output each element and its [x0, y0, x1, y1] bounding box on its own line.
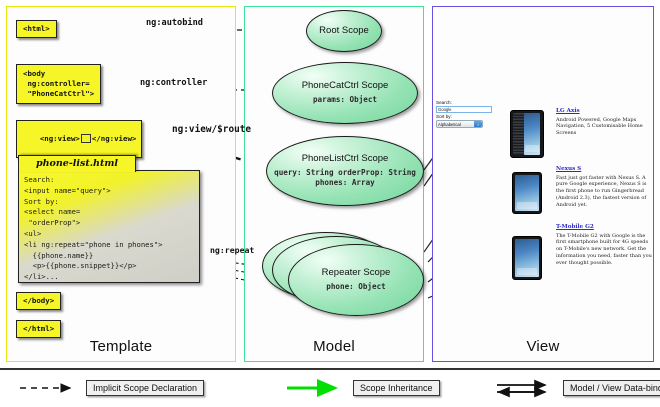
green-arrow-icon: [285, 378, 347, 398]
phone-entry-t-mobile-g2: T-Mobile G2 The T-Mobile G2 with Google …: [556, 224, 652, 266]
phone-screen: [524, 113, 540, 155]
model-column-title: Model: [245, 338, 423, 355]
scope-phonelistctrl: PhoneListCtrl Scope query: String orderP…: [266, 136, 424, 206]
diagram-canvas: Template <html> <body ng:controller= "Ph…: [0, 0, 660, 405]
sort-by-label: Sort by:: [436, 114, 498, 120]
legend-label: Model / View Data-binding: [563, 380, 660, 396]
connector-label-ng-repeat: ng:repeat: [210, 245, 254, 255]
scope-phonecatctrl: PhoneCatCtrl Scope params: Object: [272, 62, 418, 124]
phone-image-t-mobile-g2: [512, 236, 542, 280]
repeater-scope-name: Repeater Scope: [322, 268, 391, 279]
scope-phonelistctrl-name: PhoneListCtrl Scope: [302, 154, 389, 165]
sort-by-value: Alphabetical: [438, 122, 461, 127]
code-box-body-open: <body ng:controller= "PhoneCatCtrl">: [16, 64, 101, 104]
callout-code-body: Search: <input name="query"> Sort by: <s…: [18, 170, 200, 283]
legend-item-model-view-data-binding: Model / View Data-binding: [495, 378, 660, 398]
repeater-scope-props: phone: Object: [326, 282, 385, 292]
phone-screen: [515, 239, 539, 277]
phone-screen: [515, 175, 539, 211]
phone-entry-lg-axis: LG Axis Android Powered, Google Maps Nav…: [556, 108, 652, 137]
connector-label-ng-autobind: ng:autobind: [146, 18, 203, 28]
double-arrow-icon: [495, 378, 557, 398]
legend-item-implicit-scope-declaration: Implicit Scope Declaration: [18, 378, 204, 398]
search-input[interactable]: Google: [436, 106, 492, 113]
scope-phonecatctrl-name: PhoneCatCtrl Scope: [302, 81, 389, 92]
ng-view-open-tag: <ng:view>: [40, 134, 80, 143]
phone-name-link[interactable]: Nexus S: [556, 166, 652, 173]
template-column-title: Template: [7, 338, 235, 355]
sort-by-select[interactable]: Alphabetical ↕: [436, 120, 483, 128]
legend: Implicit Scope Declaration Scope Inherit…: [0, 368, 660, 407]
phone-name-link[interactable]: T-Mobile G2: [556, 224, 652, 231]
phone-list-callout: phone-list.html Search: <input name="que…: [18, 155, 200, 283]
phone-snippet: Android Powered, Google Maps Navigation,…: [556, 117, 652, 137]
connector-label-ng-view-route: ng:view/$route: [172, 124, 251, 135]
repeater-scope-stack: Repeater Scope phone: Object: [262, 232, 428, 318]
ng-view-close-tag: </ng:view>: [92, 134, 137, 143]
ng-view-placeholder-slot: [81, 134, 91, 143]
scope-phonecatctrl-props: params: Object: [313, 95, 377, 105]
callout-filename-tab: phone-list.html: [18, 155, 136, 172]
connector-label-ng-controller: ng:controller: [140, 78, 207, 88]
chevron-down-icon: ↕: [474, 121, 482, 127]
view-column-title: View: [433, 338, 653, 355]
phone-snippet: Fast just got faster with Nexus S. A pur…: [556, 175, 652, 209]
phone-image-nexus-s: [512, 172, 542, 214]
legend-item-scope-inheritance: Scope Inheritance: [285, 378, 440, 398]
view-search-form: Search: Google Sort by: Alphabetical ↕: [436, 100, 498, 128]
code-box-body-close: </body>: [16, 292, 61, 310]
dashed-arrow-icon: [18, 378, 80, 398]
code-box-html-open: <html>: [16, 20, 57, 38]
legend-label: Implicit Scope Declaration: [86, 380, 204, 396]
phone-name-link[interactable]: LG Axis: [556, 108, 652, 115]
phone-image-lg-axis: [510, 110, 544, 158]
code-box-ng-view: <ng:view></ng:view>: [16, 120, 142, 158]
phone-snippet: The T-Mobile G2 with Google is the first…: [556, 233, 652, 267]
legend-label: Scope Inheritance: [353, 380, 440, 396]
scope-root: Root Scope: [306, 10, 382, 52]
scope-root-name: Root Scope: [319, 26, 369, 37]
scope-phonelistctrl-props: query: String orderProp: String phones: …: [267, 168, 423, 188]
repeater-scope-front: Repeater Scope phone: Object: [288, 244, 424, 316]
phone-entry-nexus-s: Nexus S Fast just got faster with Nexus …: [556, 166, 652, 208]
code-box-html-close: </html>: [16, 320, 61, 338]
